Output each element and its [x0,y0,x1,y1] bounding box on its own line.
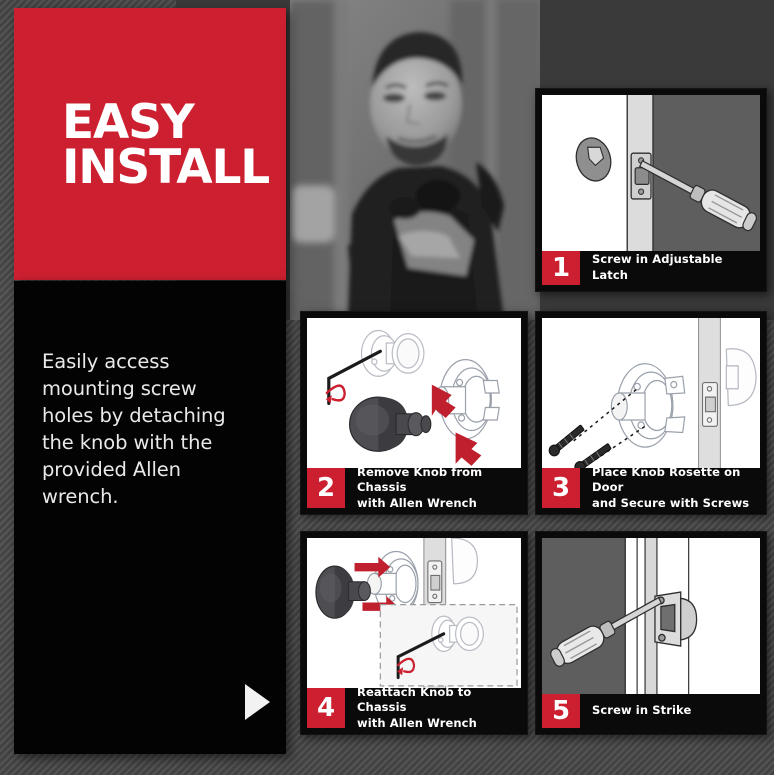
step-1-caption-line-1: Screw in Adjustable Latch [592,252,760,283]
step-3-number: 3 [542,468,580,508]
step-2-caption-text: Remove Knob from Chassis with Allen Wren… [345,468,521,508]
poster-root: EASY INSTALL Easily access mounting scre… [0,0,774,775]
step-3-caption-line-2: and Secure with Screws [592,496,760,512]
step-4-caption-line-1: Reattach Knob to Chassis [357,685,521,716]
description-panel: Easily access mounting screw holes by de… [14,281,286,754]
step-2-caption-line-1: Remove Knob from Chassis [357,465,521,496]
step-2-caption-line-2: with Allen Wrench [357,496,521,512]
step-3-illustration [542,318,760,470]
step-5-caption: 5 Screw in Strike [542,694,760,728]
step-4-caption-text: Reattach Knob to Chassis with Allen Wren… [345,688,521,728]
step-5-caption-line-1: Screw in Strike [592,703,760,719]
background-panel-right [540,0,774,100]
step-4-illustration [307,538,521,690]
step-panel-2: 2 Remove Knob from Chassis with Allen Wr… [300,311,528,515]
step-panel-5: 5 Screw in Strike [535,531,767,735]
step-1-caption: 1 Screw in Adjustable Latch [542,251,760,285]
step-4-number: 4 [307,688,345,728]
step-2-number: 2 [307,468,345,508]
step-5-number: 5 [542,694,580,728]
step-3-caption-text: Place Knob Rosette on Door and Secure wi… [580,468,760,508]
headline-block: EASY INSTALL [14,8,286,280]
description-text: Easily access mounting screw holes by de… [42,349,232,510]
step-4-caption: 4 Reattach Knob to Chassis with Allen Wr… [307,688,521,728]
step-panel-3: 3 Place Knob Rosette on Door and Secure … [535,311,767,515]
step-2-caption: 2 Remove Knob from Chassis with Allen Wr… [307,468,521,508]
step-1-illustration [542,95,760,253]
step-5-illustration [542,538,760,696]
step-4-caption-line-2: with Allen Wrench [357,716,521,732]
installer-photo [290,0,540,320]
step-5-caption-text: Screw in Strike [580,694,760,728]
play-triangle-icon [245,684,270,720]
step-1-caption-text: Screw in Adjustable Latch [580,251,760,285]
step-1-number: 1 [542,251,580,285]
step-2-illustration [307,318,521,470]
headline-line-2: INSTALL [62,145,269,190]
step-panel-1: 1 Screw in Adjustable Latch [535,88,767,292]
page-title: EASY INSTALL [62,100,269,190]
step-3-caption-line-1: Place Knob Rosette on Door [592,465,760,496]
step-3-caption: 3 Place Knob Rosette on Door and Secure … [542,468,760,508]
step-panel-4: 4 Reattach Knob to Chassis with Allen Wr… [300,531,528,735]
